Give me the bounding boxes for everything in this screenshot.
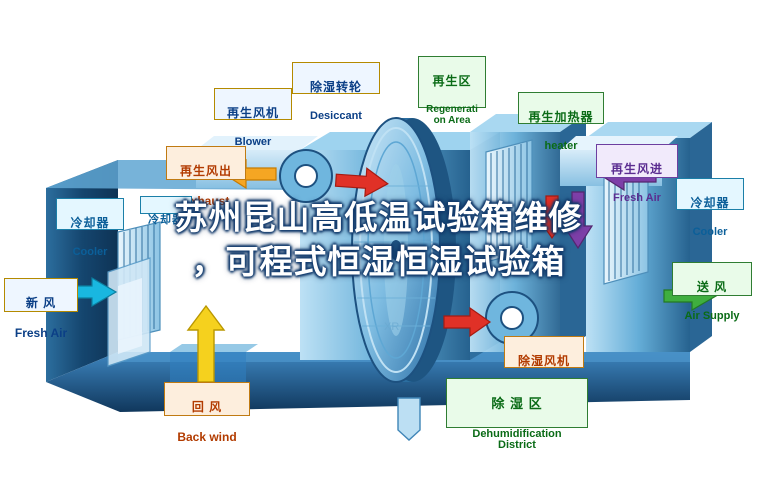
label-cooler-mid: 冷却器 (140, 196, 192, 214)
label-regeneration-area: 再生区 Regenerati on Area (418, 56, 486, 108)
label-cooler-left-cn: 冷却器 (60, 217, 120, 230)
label-air-supply-cn: 送 风 (676, 281, 748, 294)
label-fresh-air: 新 风 Fresh Air (4, 278, 78, 312)
label-cooler-right-cn: 冷却器 (680, 197, 740, 210)
label-regeneration-fresh-air-in-cn: 再生风进 (600, 163, 674, 176)
label-regeneration-blower-cn: 再生风机 (218, 107, 288, 120)
label-fresh-air-en: Fresh Air (8, 327, 74, 340)
label-regeneration-exhaust-cn: 再生风出 (170, 165, 242, 178)
label-dehumidification-district-en: Dehumidification District (450, 429, 584, 453)
label-back-wind-cn: 回 风 (168, 401, 246, 414)
label-regeneration-exhaust: 再生风出 Exhaust (166, 146, 246, 180)
label-air-supply: 送 风 Air Supply (672, 262, 752, 296)
label-dehumidification-district-cn: 除 湿 区 (450, 397, 584, 411)
label-cooler-left: 冷却器 Cooler (56, 198, 124, 230)
label-desiccant-wheel-en: Desiccant (296, 111, 376, 123)
label-cooler-right: 冷却器 Cooler (676, 178, 744, 210)
label-dehumidification-blower: 除湿风机 Blower (504, 336, 584, 368)
label-regeneration-blower: 再生风机 Blower (214, 88, 292, 120)
label-regeneration-area-en: Regenerati on Area (422, 105, 482, 127)
label-cooler-left-en: Cooler (60, 247, 120, 259)
label-regeneration-heater-en: heater (522, 141, 600, 153)
svg-text:XR: XR (384, 321, 399, 333)
label-dehumidification-district: 除 湿 区 Dehumidification District (446, 378, 588, 428)
label-dehumidification-blower-cn: 除湿风机 (508, 355, 580, 368)
diagram-canvas: XR 除湿转轮 Desiccant 再生风机 Blower 再生区 Regene… (0, 0, 757, 488)
label-regeneration-heater-cn: 再生加热器 (522, 111, 600, 124)
label-cooler-mid-cn: 冷却器 (144, 215, 188, 227)
label-regeneration-heater: 再生加热器 heater (518, 92, 604, 124)
label-fresh-air-cn: 新 风 (8, 297, 74, 310)
label-back-wind-en: Back wind (168, 431, 246, 444)
label-regeneration-area-cn: 再生区 (422, 75, 482, 88)
label-back-wind: 回 风 Back wind (164, 382, 250, 416)
label-regeneration-fresh-air-in-en: Fresh Air (600, 193, 674, 205)
label-air-supply-en: Air Supply (676, 311, 748, 323)
label-cooler-right-en: Cooler (680, 227, 740, 239)
label-desiccant-wheel: 除湿转轮 Desiccant (292, 62, 380, 94)
label-desiccant-wheel-cn: 除湿转轮 (296, 81, 376, 94)
label-regeneration-fresh-air-in: 再生风进 Fresh Air (596, 144, 678, 178)
